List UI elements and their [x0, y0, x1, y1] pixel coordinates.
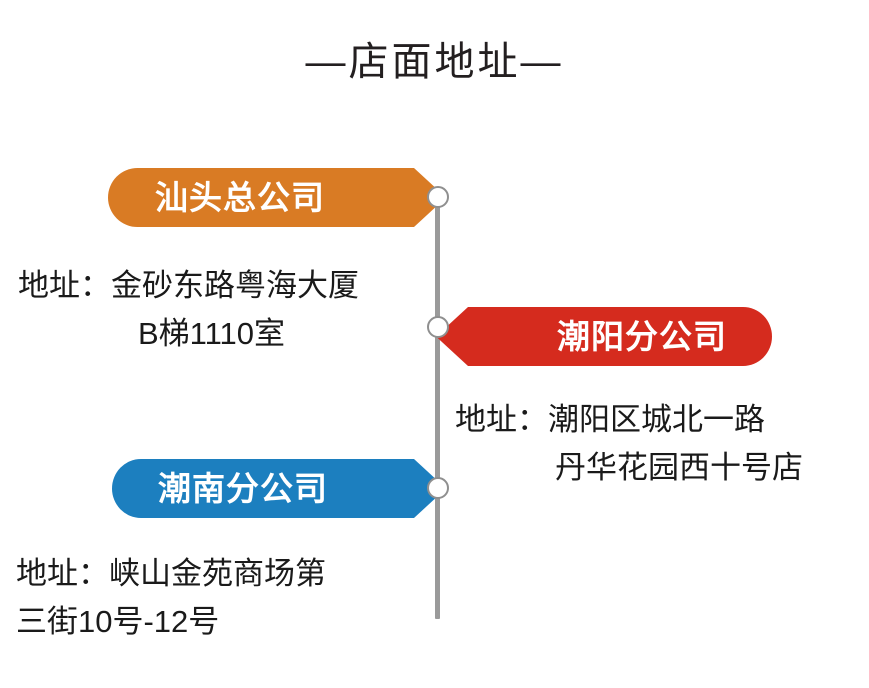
address-infographic: —店面地址— 汕头总公司 地址：金砂东路粤海大厦 B梯1110室 潮阳分公司 地… — [0, 0, 869, 688]
branch-banner-chaoyang-branch[interactable]: 潮阳分公司 — [436, 307, 772, 366]
page-title: —店面地址— — [0, 38, 869, 86]
address-line: 地址：潮阳区城北一路 — [455, 396, 803, 444]
branch-banner-label: 潮南分公司 — [158, 472, 328, 505]
timeline-node-dot — [427, 316, 449, 338]
timeline-spine — [435, 197, 440, 619]
timeline-node-dot — [427, 477, 449, 499]
branch-address-shantou-head-office: 地址：金砂东路粤海大厦 B梯1110室 — [18, 262, 359, 358]
address-line: 地址：金砂东路粤海大厦 — [18, 262, 359, 310]
branch-banner-label: 潮阳分公司 — [557, 320, 727, 353]
branch-address-chaoyang-branch: 地址：潮阳区城北一路 丹华花园西十号店 — [455, 396, 803, 492]
branch-banner-label: 汕头总公司 — [155, 181, 325, 214]
timeline-node-dot — [427, 186, 449, 208]
branch-banner-shantou-head-office[interactable]: 汕头总公司 — [108, 168, 446, 227]
branch-address-chaonan-branch: 地址：峡山金苑商场第 三街10号-12号 — [16, 550, 326, 646]
address-line: 地址：峡山金苑商场第 — [16, 550, 326, 598]
address-line: 三街10号-12号 — [16, 598, 326, 646]
address-line: B梯1110室 — [18, 310, 359, 358]
branch-banner-chaonan-branch[interactable]: 潮南分公司 — [112, 459, 446, 518]
address-line: 丹华花园西十号店 — [455, 444, 803, 492]
